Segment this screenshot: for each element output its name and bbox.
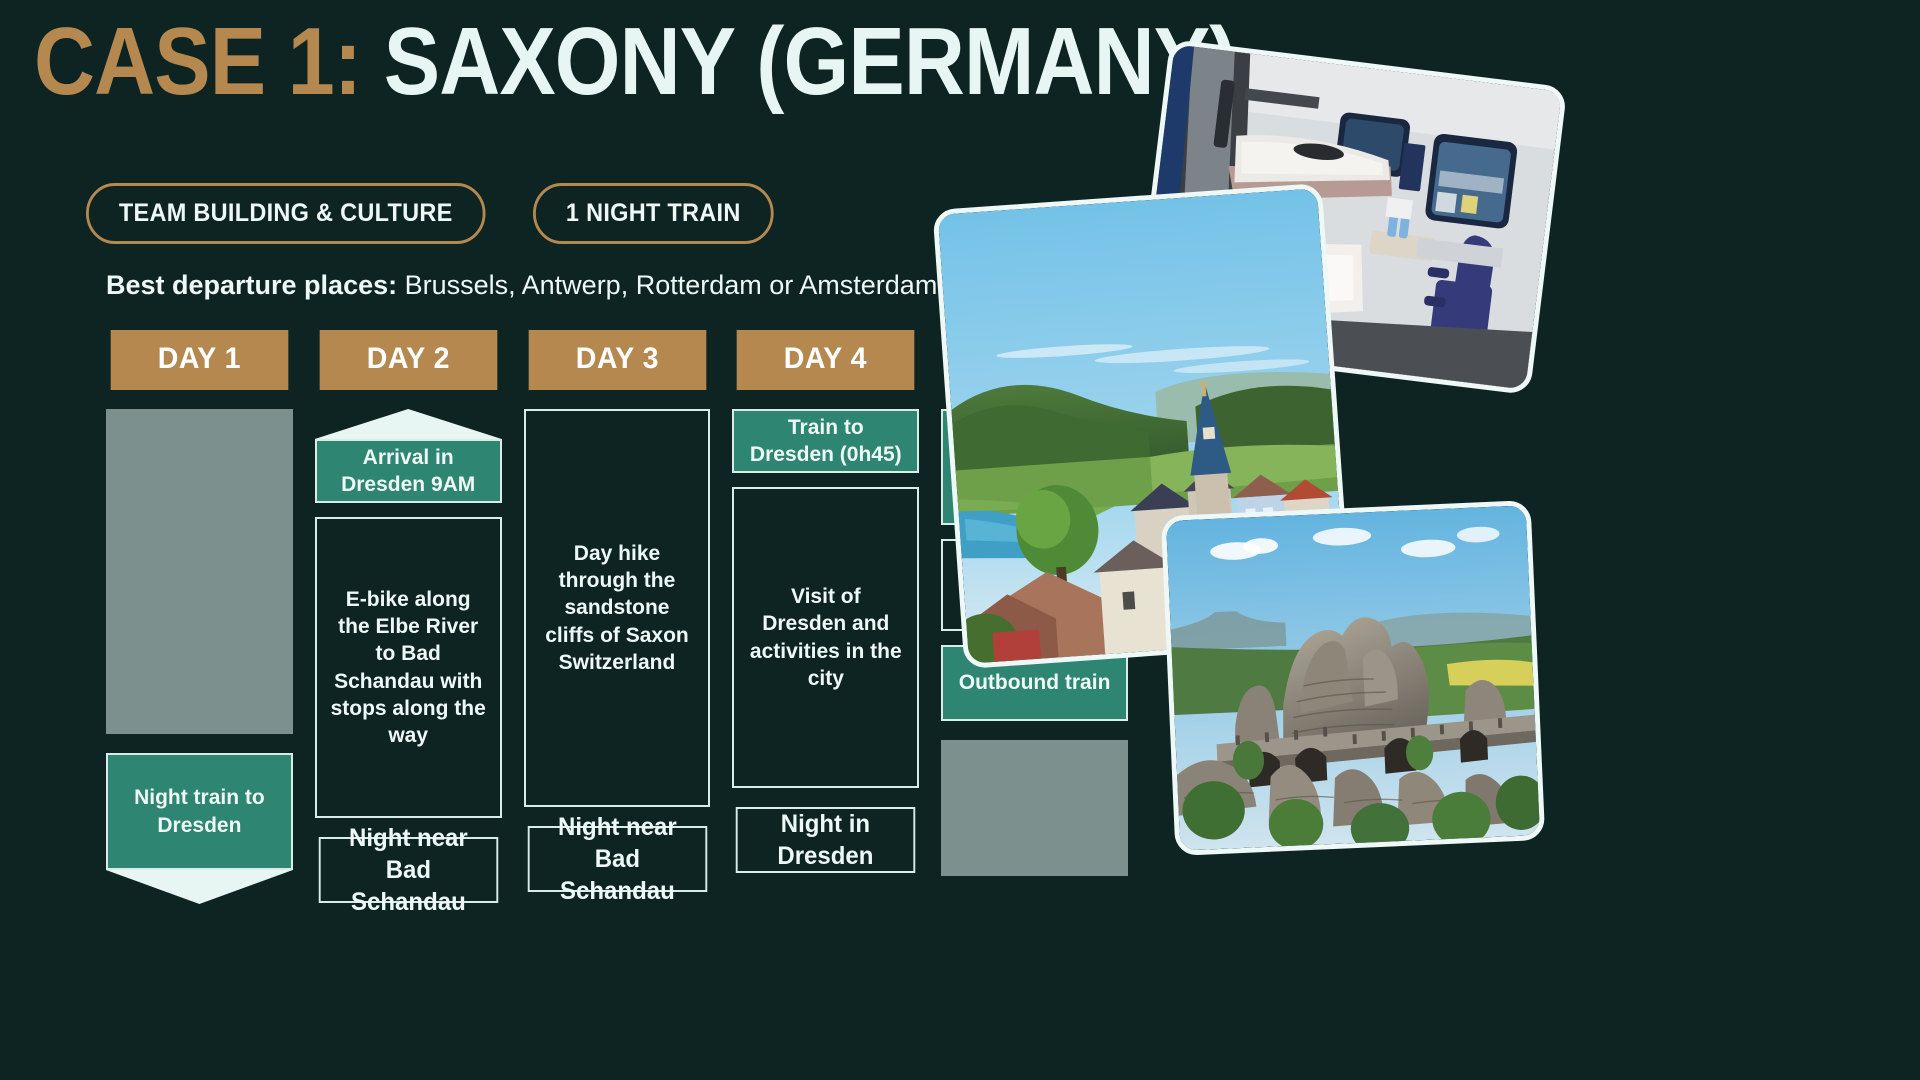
badge-row: TEAM BUILDING & CULTURE 1 NIGHT TRAIN [86,183,789,244]
bastei-bridge-photo [1161,500,1545,856]
day-column-3: Day hike through the sandstone cliffs of… [524,409,711,892]
spacer [106,734,293,753]
day1-image-placeholder [106,409,293,734]
day2-arrival-box[interactable]: Arrival in Dresden 9AM [315,439,502,503]
day1-night-train-box[interactable]: Night train to Dresden [106,753,293,870]
arrow-up-icon [315,409,502,439]
day-column-2: Arrival in Dresden 9AM E-bike along the … [315,409,502,903]
badge-night-train[interactable]: 1 NIGHT TRAIN [533,183,774,244]
day5-image-placeholder [941,740,1128,876]
day2-night-box[interactable]: Night near Bad Schandau [319,837,498,903]
arrow-down-icon [106,870,293,904]
title-case-accent: CASE 1: [34,8,361,115]
spacer [732,788,919,807]
day-header-3: DAY 3 [528,330,705,390]
spacer [732,473,919,487]
title-main: SAXONY (GERMANY) [361,8,1236,115]
day-column-4: Train to Dresden (0h45) Visit of Dresden… [732,409,919,873]
day3-night-box[interactable]: Night near Bad Schandau [527,826,706,892]
day3-activity-box[interactable]: Day hike through the sandstone cliffs of… [524,409,711,807]
day-header-1: DAY 1 [111,330,288,390]
spacer [315,503,502,517]
badge-team-building[interactable]: TEAM BUILDING & CULTURE [86,183,486,244]
day-header-2: DAY 2 [319,330,496,390]
day4-night-box[interactable]: Night in Dresden [736,807,915,873]
spacer [941,721,1128,740]
day4-train-box[interactable]: Train to Dresden (0h45) [732,409,919,473]
day2-activity-box[interactable]: E-bike along the Elbe River to Bad Schan… [315,517,502,818]
day-column-1: Night train to Dresden [106,409,293,904]
departure-places-value: Brussels, Antwerp, Rotterdam or Amsterda… [397,270,945,300]
day-header-4: DAY 4 [737,330,914,390]
page-title: CASE 1: SAXONY (GERMANY) [34,12,1236,113]
departure-places-line: Best departure places: Brussels, Antwerp… [106,270,945,301]
departure-places-label: Best departure places: [106,270,397,300]
day4-activity-box[interactable]: Visit of Dresden and activities in the c… [732,487,919,788]
